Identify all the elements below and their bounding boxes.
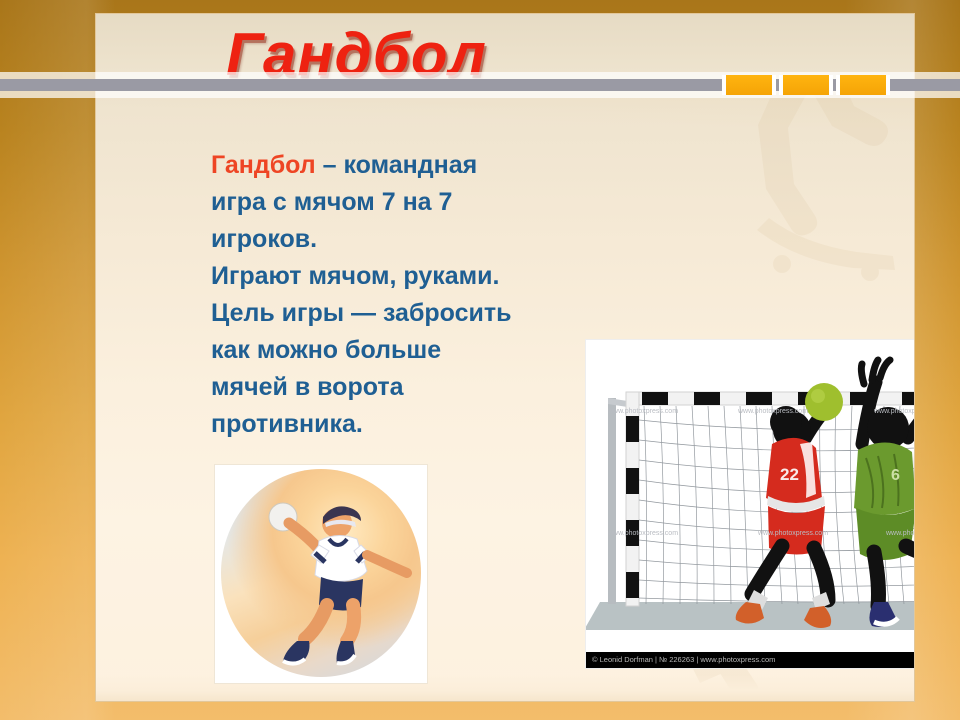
handball-match-scene: 22 bbox=[586, 340, 915, 668]
photo-watermark: www.photoxpress.com bbox=[608, 408, 678, 415]
body-lead-rest: – командная bbox=[316, 151, 478, 179]
accent-square-1 bbox=[722, 75, 776, 95]
photo-watermark: www.photoxpress.com bbox=[886, 530, 915, 537]
body-line-6: мячей в ворота bbox=[211, 373, 404, 401]
photo-watermark: www.photoxpress.com bbox=[874, 408, 915, 415]
body-line-3: Играют мячом, руками. bbox=[211, 262, 499, 290]
presentation-slide: Гандбол Гандбол – командная игра с мячом… bbox=[0, 0, 960, 720]
handball-illustration-image bbox=[214, 464, 428, 684]
svg-text:6: 6 bbox=[891, 467, 900, 484]
body-lead-term: Гандбол bbox=[211, 151, 316, 179]
body-line-1: игра с мячом 7 на 7 bbox=[211, 188, 452, 216]
body-text-block: Гандбол – командная игра с мячом 7 на 7 … bbox=[211, 147, 611, 443]
header-divider-rule bbox=[0, 72, 960, 98]
photo-watermark: www.photoxpress.com bbox=[738, 408, 808, 415]
photo-credit: © Leonid Dorfman | № 226263 | www.photox… bbox=[586, 652, 915, 668]
svg-text:22: 22 bbox=[780, 465, 799, 484]
handball-player-illustration bbox=[215, 465, 427, 683]
body-line-4: Цель игры — забросить bbox=[211, 299, 512, 327]
handball-action-photo: 22 bbox=[585, 339, 915, 669]
body-line-7: противника. bbox=[211, 410, 363, 438]
photo-watermark: www.photoxpress.com bbox=[758, 530, 828, 537]
slide-content-panel: Гандбол Гандбол – командная игра с мячом… bbox=[95, 13, 915, 702]
accent-square-2 bbox=[779, 75, 833, 95]
accent-square-3 bbox=[836, 75, 890, 95]
photo-watermark: www.photoxpress.com bbox=[608, 530, 678, 537]
body-line-2: игроков. bbox=[211, 225, 317, 253]
body-line-5: как можно больше bbox=[211, 336, 441, 364]
